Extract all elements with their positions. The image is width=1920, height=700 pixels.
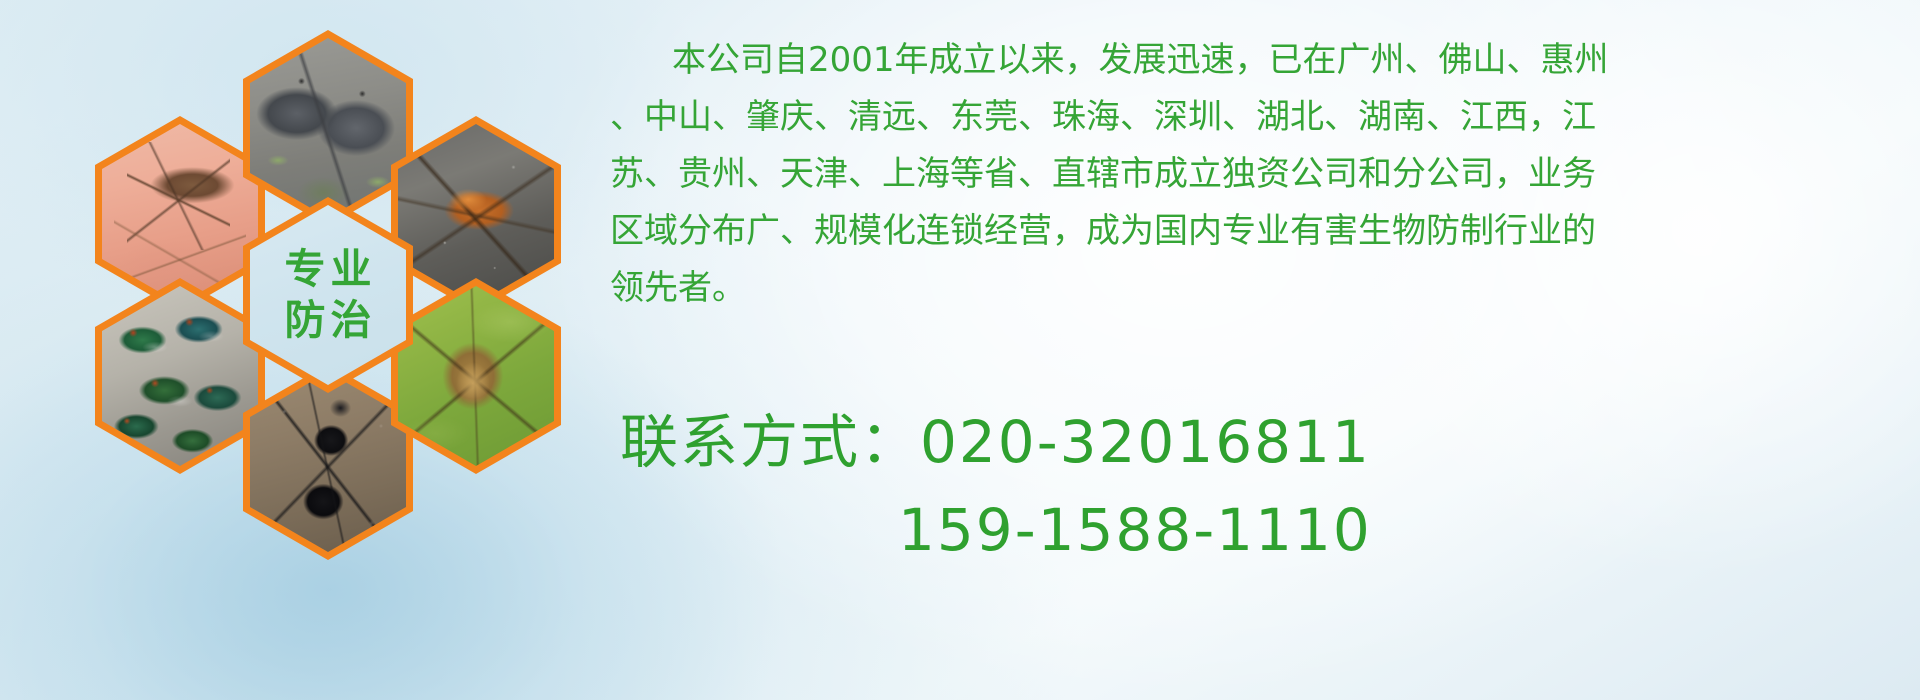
intro-line-3: 苏、贵州、天津、上海等省、直辖市成立独资公司和分公司，业务 — [610, 146, 1910, 203]
intro-line-2: 、中山、肇庆、清远、东莞、珠海、深圳、湖北、湖南、江西，江 — [610, 89, 1910, 146]
intro-line-1: 本公司自2001年成立以来，发展迅速，已在广州、佛山、惠州 — [610, 32, 1910, 89]
hex-rats — [243, 30, 413, 226]
intro-paragraph: 本公司自2001年成立以来，发展迅速，已在广州、佛山、惠州 、中山、肇庆、清远、… — [610, 32, 1910, 317]
hex-stinkbug — [391, 278, 561, 474]
mosquito-icon — [102, 124, 258, 304]
fly-icon — [102, 286, 258, 466]
intro-line-5: 领先者。 — [610, 260, 1910, 317]
hex-flies — [95, 278, 265, 474]
slogan-line-1: 专业 — [280, 244, 377, 295]
stinkbug-icon — [398, 286, 554, 466]
intro-line-4: 区域分布广、规模化连锁经营，成为国内专业有害生物防制行业的 — [610, 203, 1910, 260]
slogan-line-2: 防治 — [280, 295, 377, 346]
hexagon-photo-cluster: 专业 防治 — [95, 8, 595, 568]
contact-block: 联系方式：020-32016811 159-1588-1110 — [620, 398, 1920, 574]
hex-slogan: 专业 防治 — [243, 197, 413, 393]
contact-line-mobile[interactable]: 159-1588-1110 — [620, 486, 1920, 574]
rat-icon — [250, 38, 406, 218]
promo-banner: 专业 防治 本公司自2001年成立以来，发展迅速，已在广州、佛山、惠州 、中山、… — [0, 0, 1920, 700]
hex-ant — [243, 364, 413, 560]
ant-icon — [250, 372, 406, 552]
contact-line-landline[interactable]: 联系方式：020-32016811 — [620, 398, 1920, 486]
cockroach-icon — [398, 124, 554, 304]
